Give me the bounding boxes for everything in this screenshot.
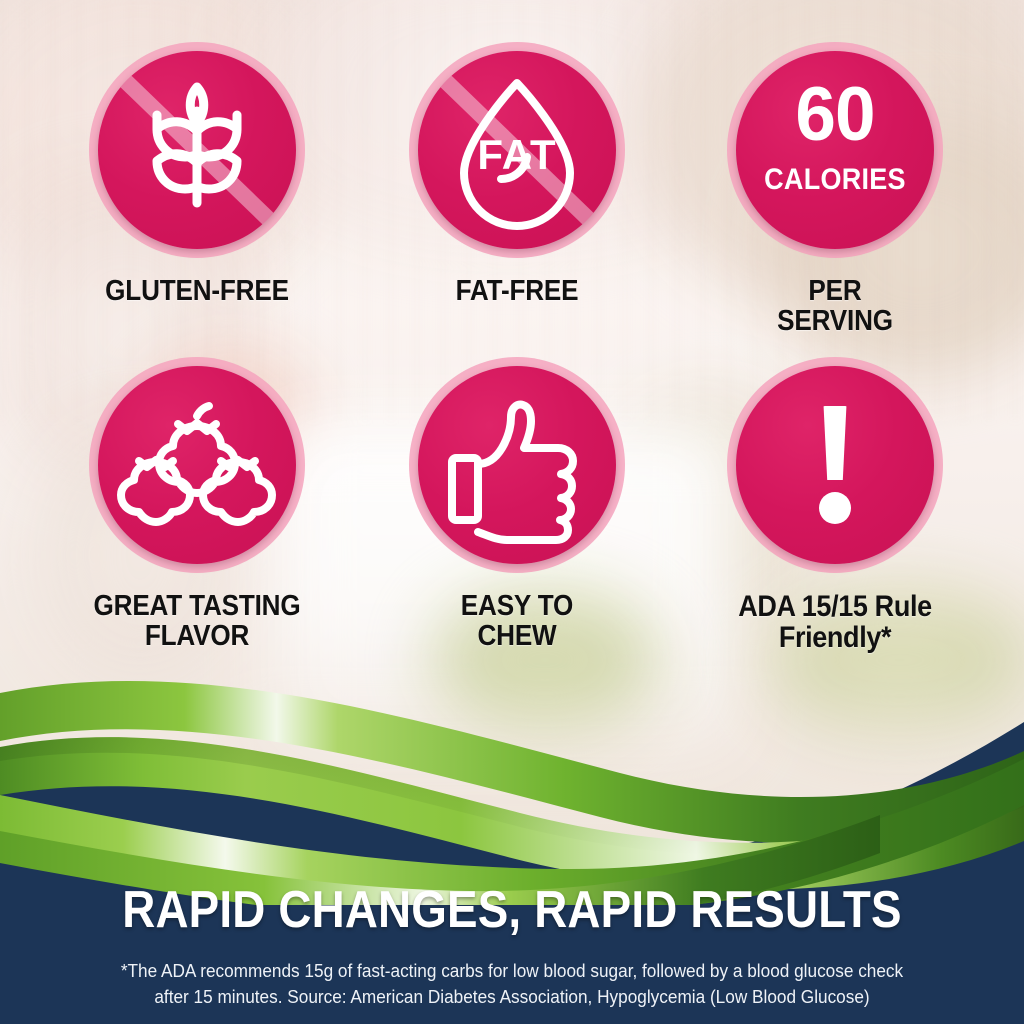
calorie-count-icon: 60 CALORIES (736, 51, 934, 249)
badge-circle (727, 357, 943, 573)
badge-calories-per-serving[interactable]: 60 CALORIES PER SERVING (670, 42, 1000, 336)
badge-circle: FAT (409, 42, 625, 258)
exclamation-mark-icon (736, 366, 934, 564)
page-headline: RAPID CHANGES, RAPID RESULTS (61, 880, 962, 940)
badge-circle (89, 357, 305, 573)
badge-easy-to-chew[interactable]: EASY TO CHEW (352, 357, 682, 651)
footnote-line: after 15 minutes. Source: American Diabe… (94, 984, 931, 1010)
no-symbol-slash-icon (418, 51, 616, 249)
footnote-line: *The ADA recommends 15g of fast-acting c… (94, 958, 931, 984)
badge-grid: GLUTEN-FREE FAT FAT-FREE (0, 0, 1024, 700)
badge-label: EASY TO CHEW (369, 591, 666, 651)
exclamation-bar (822, 406, 848, 480)
badge-circle (89, 42, 305, 258)
badge-circle (409, 357, 625, 573)
badge-label: GLUTEN-FREE (49, 276, 346, 306)
no-symbol-slash-icon (98, 51, 296, 249)
calories-number: 60 (740, 81, 930, 149)
thumbs-up-icon (418, 366, 616, 564)
exclamation-dot (819, 492, 851, 524)
berries-icon (98, 366, 296, 564)
badge-circle: 60 CALORIES (727, 42, 943, 258)
badge-label: ADA 15/15 Rule Friendly* (687, 591, 984, 653)
badge-fat-free[interactable]: FAT FAT-FREE (352, 42, 682, 306)
product-feature-poster: GLUTEN-FREE FAT FAT-FREE (0, 0, 1024, 1024)
badge-gluten-free[interactable]: GLUTEN-FREE (32, 42, 362, 306)
badge-label: FAT-FREE (369, 276, 666, 306)
calories-word: CALORIES (746, 163, 924, 197)
badge-label: GREAT TASTING FLAVOR (49, 591, 346, 651)
badge-ada-rule-friendly[interactable]: ADA 15/15 Rule Friendly* (670, 357, 1000, 653)
footnote-text: *The ADA recommends 15g of fast-acting c… (94, 958, 931, 1009)
badge-great-tasting-flavor[interactable]: GREAT TASTING FLAVOR (32, 357, 362, 651)
badge-label: PER SERVING (687, 276, 984, 336)
